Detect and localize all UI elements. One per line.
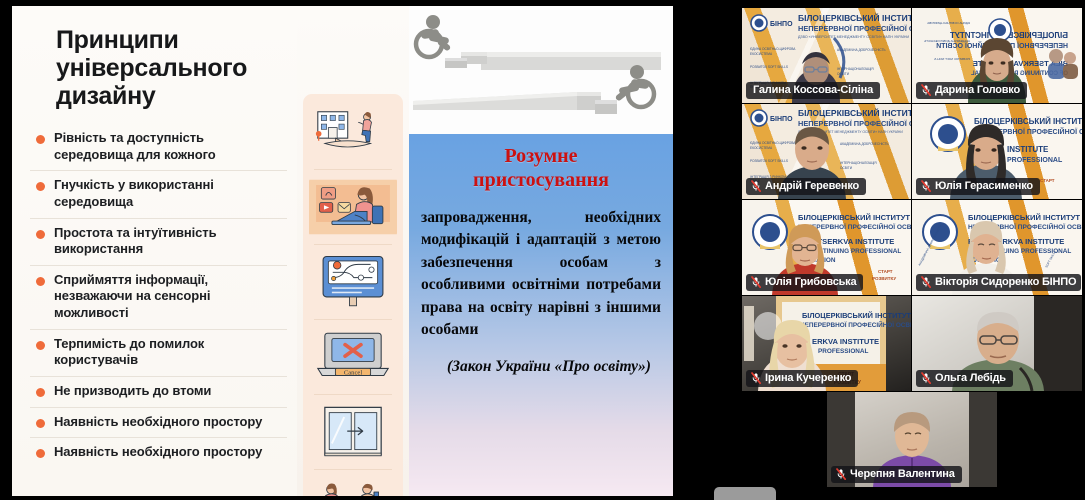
- bullet-dot-icon: [36, 419, 45, 428]
- participant-name-label: Дарина Головко: [935, 84, 1020, 96]
- list-item: Сприймяття інформації, незважаючи на сен…: [30, 265, 287, 329]
- bullet-dot-icon: [36, 135, 45, 144]
- svg-text:ОСВІТИ: ОСВІТИ: [840, 166, 853, 170]
- list-item: Простота та інтуїтивність використання: [30, 218, 287, 265]
- panel-heading: Розумне пристосування: [421, 144, 661, 193]
- microphone-muted-icon: [921, 180, 931, 192]
- cancel-button-label: Cancel: [344, 370, 362, 377]
- participant-name-label: Ірина Кучеренко: [765, 372, 851, 384]
- svg-text:СТАРТ: СТАРТ: [878, 269, 893, 274]
- participant-name-label: Галина Коссова-Сіліна: [753, 84, 873, 96]
- list-item: Наявність необхідного простору: [30, 437, 287, 468]
- svg-text:БІЛОЦЕРКІВСЬКИЙ ІНСТИТУТ: БІЛОЦЕРКІВСЬКИЙ ІНСТИТУТ: [798, 213, 910, 222]
- svg-text:БІЛОЦЕРКІВСЬКИЙ ІНСТИТУТ: БІЛОЦЕРКІВСЬКИЙ ІНСТИТУТ: [968, 213, 1080, 222]
- person-at-laptop-icon: [309, 176, 397, 238]
- list-item: Не призводить до втоми: [30, 376, 287, 407]
- svg-text:АКАДЕМІЧНА ДОБРОЧЕСНІСТЬ: АКАДЕМІЧНА ДОБРОЧЕСНІСТЬ: [924, 39, 970, 43]
- participant-name-chip: Юлія Грибовська: [746, 274, 863, 291]
- reasonable-accommodation-panel: Розумне пристосування запровадження, нео…: [409, 134, 673, 496]
- participant-name-label: Юлія Герасименко: [935, 180, 1033, 192]
- microphone-muted-icon: [921, 276, 931, 288]
- bullet-dot-icon: [36, 182, 45, 191]
- participant-tile-olha-lebid[interactable]: Ольга Лебідь: [912, 296, 1082, 391]
- two-students-desk-icon: [309, 476, 397, 496]
- slide-right-column: Розумне пристосування запровадження, нео…: [409, 6, 673, 496]
- participant-tile-yuliia-hrybovska[interactable]: БІЛОЦЕРКІВСЬКИЙ ІНСТИТУТ НЕПЕРЕРВНОЇ ПРО…: [742, 200, 911, 295]
- list-item-label: Не призводить до втоми: [54, 383, 211, 400]
- svg-text:INSTITUTE: INSTITUTE: [1007, 145, 1049, 154]
- svg-text:РОЗВИТОК SOFT SKILLS: РОЗВИТОК SOFT SKILLS: [750, 159, 788, 163]
- participant-name-chip: Черепня Валентина: [831, 466, 962, 483]
- participant-name-chip: Ольга Лебідь: [916, 370, 1013, 387]
- participant-name-chip: Вікторія Сидоренко БІНПО: [916, 274, 1081, 291]
- bullet-dot-icon: [36, 230, 45, 239]
- list-item-label: Рівність та доступність середовища для к…: [54, 130, 283, 163]
- svg-text:НЕПЕРЕРВНОЇ ПРОФЕСІЙНОЇ ОСВІТИ: НЕПЕРЕРВНОЇ ПРОФЕСІЙНОЇ ОСВІТИ: [798, 24, 911, 33]
- svg-text:СТАРТ: СТАРТ: [1040, 178, 1055, 183]
- slide-title-line-2: універсального дизайну: [56, 54, 247, 110]
- participant-name-chip: Ірина Кучеренко: [746, 370, 858, 387]
- list-item: Рівність та доступність середовища для к…: [30, 124, 287, 170]
- microphone-muted-icon: [751, 180, 761, 192]
- svg-text:АКАДЕМІЧНА ДОБРОЧЕСНІСТЬ: АКАДЕМІЧНА ДОБРОЧЕСНІСТЬ: [837, 48, 886, 52]
- list-item-label: Гнучкість у використанні середовища: [54, 177, 283, 210]
- participant-tile-halyna-kossova-silina[interactable]: БІНПО БІЛОЦЕРКІВСЬКИЙ ІНСТИТУТ НЕПЕРЕРВН…: [742, 8, 911, 103]
- participant-tile-andrii-herevenko[interactable]: БІНПО БІЛОЦЕРКІВСЬКИЙ ІНСТИТУТ НЕПЕРЕРВН…: [742, 104, 911, 199]
- svg-text:ЄДИНА ОСВІТНЬО-ЦИФРОВА: ЄДИНА ОСВІТНЬО-ЦИФРОВА: [750, 47, 796, 51]
- shared-presentation-slide[interactable]: Принципи універсального дизайну Рівність…: [12, 6, 673, 496]
- microphone-muted-icon: [751, 372, 761, 384]
- participant-name-label: Юлія Грибовська: [765, 276, 856, 288]
- svg-text:БІЛОЦЕРКІВСЬКИЙ ІНСТИТУТ: БІЛОЦЕРКІВСЬКИЙ ІНСТИТУТ: [798, 12, 911, 23]
- microphone-muted-icon: [836, 468, 846, 480]
- participant-tile-cherepnia-valentyna[interactable]: Черепня Валентина: [827, 392, 997, 487]
- slide-text-column: Принципи універсального дизайну Рівність…: [12, 6, 297, 496]
- bullet-dot-icon: [36, 449, 45, 458]
- bullet-dot-icon: [36, 277, 45, 286]
- panel-heading-line-2: пристосування: [421, 168, 661, 192]
- svg-text:ІНТЕРНАЦІОНАЛІЗАЦІЯ: ІНТЕРНАЦІОНАЛІЗАЦІЯ: [840, 161, 877, 165]
- wheelchair-stairs-vs-ramp-image: [409, 6, 673, 134]
- participant-tile-viktoriia-sydorenko[interactable]: БІЛОЦЕРКІВСЬКИЙ ІНСТИТУТ НЕПЕРЕРВНОЇ ПРО…: [912, 200, 1082, 295]
- svg-text:РОЗВИТОК SOFT SKILLS: РОЗВИТОК SOFT SKILLS: [750, 65, 788, 69]
- svg-text:НЕПЕРЕРВНОЇ ПРОФЕСІЙНОЇ ОСВІТИ: НЕПЕРЕРВНОЇ ПРОФЕСІЙНОЇ ОСВІТИ: [800, 320, 911, 329]
- participant-name-label: Ольга Лебідь: [935, 372, 1006, 384]
- list-item: Терпимість до помилок користувачів: [30, 329, 287, 376]
- svg-text:АКАДЕМІЧНА ДОБРОЧЕСНІСТЬ: АКАДЕМІЧНА ДОБРОЧЕСНІСТЬ: [840, 142, 889, 146]
- svg-text:PROFESSIONAL: PROFESSIONAL: [1007, 157, 1063, 164]
- svg-text:ЕКОСИСТЕМА: ЕКОСИСТЕМА: [750, 52, 773, 56]
- automatic-sliding-door-icon: [309, 401, 397, 463]
- list-item-label: Сприймяття інформації, незважаючи на сен…: [54, 272, 283, 322]
- panel-law-citation: (Закон України «Про освіту»): [421, 356, 661, 378]
- panel-body-text: запровадження, необхідних модифікацій і …: [421, 207, 661, 342]
- participant-tile-grid: БІНПО БІЛОЦЕРКІВСЬКИЙ ІНСТИТУТ НЕПЕРЕРВН…: [742, 8, 1082, 494]
- svg-text:РОЗВИТКУ: РОЗВИТКУ: [872, 276, 896, 281]
- principles-list: Рівність та доступність середовища для к…: [30, 124, 287, 490]
- bullet-dot-icon: [36, 388, 45, 397]
- list-item-label: Наявність необхідного простору: [54, 414, 262, 431]
- participant-name-label: Черепня Валентина: [850, 468, 955, 480]
- svg-text:ЄДИНА ОСВІТНЬО-ЦИФРОВА: ЄДИНА ОСВІТНЬО-ЦИФРОВА: [750, 141, 796, 145]
- list-item-label: Наявність необхідного простору: [54, 444, 262, 461]
- list-item-label: Простота та інтуїтивність використання: [54, 225, 283, 258]
- participant-tile-yuliia-herasymenko[interactable]: БІЛОЦЕРКІВСЬКИЙ ІНСТИТУТ НЕПЕРЕРВНОЇ ПРО…: [912, 104, 1082, 199]
- participant-name-label: Андрій Геревенко: [765, 180, 859, 192]
- divider: [314, 469, 392, 470]
- svg-text:РОЗВИТОК SOFT SKILLS: РОЗВИТОК SOFT SKILLS: [934, 57, 970, 61]
- participant-tile-daryna-holovko[interactable]: БІЛОЦЕРКІВСЬКИЙ ІНСТИТУТ НЕПЕРЕРВНОЇ ПРО…: [912, 8, 1082, 103]
- list-item-label: Терпимість до помилок користувачів: [54, 336, 283, 369]
- svg-text:БІЛОЦЕРКІВСЬКИЙ ІНСТИТУТ: БІЛОЦЕРКІВСЬКИЙ ІНСТИТУТ: [798, 107, 911, 118]
- participant-tile-iryna-kucherenko[interactable]: БІЛОЦЕРКІВСЬКИЙ ІНСТИТУТ НЕПЕРЕРВНОЇ ПРО…: [742, 296, 911, 391]
- participant-name-chip: Дарина Головко: [916, 82, 1027, 99]
- illustration-card: Cancel: [303, 94, 403, 496]
- participant-name-label: Вікторія Сидоренко БІНПО: [935, 276, 1076, 288]
- slide-illustration-column: Cancel: [297, 6, 409, 496]
- svg-text:БІНПО: БІНПО: [770, 21, 793, 28]
- panel-heading-line-1: Розумне: [504, 145, 577, 167]
- page-title: Принципи універсального дизайну: [56, 26, 287, 110]
- svg-text:БІЛОЦЕРКІВСЬКИЙ ІНСТИТУТ: БІЛОЦЕРКІВСЬКИЙ ІНСТИТУТ: [802, 311, 911, 320]
- svg-text:PROFESSIONAL: PROFESSIONAL: [818, 348, 869, 355]
- participant-name-chip: Юлія Герасименко: [916, 178, 1040, 195]
- list-item: Наявність необхідного простору: [30, 407, 287, 438]
- svg-text:ЕКОСИСТЕМА: ЕКОСИСТЕМА: [750, 146, 773, 150]
- divider: [314, 244, 392, 245]
- svg-text:ДЗВО «УНІВЕРСИТЕТ МЕНЕДЖМЕНТУ: ДЗВО «УНІВЕРСИТЕТ МЕНЕДЖМЕНТУ ОСВІТИ» НА…: [798, 35, 909, 39]
- participant-name-chip: Андрій Геревенко: [746, 178, 866, 195]
- divider: [314, 169, 392, 170]
- svg-text:БІНПО: БІНПО: [770, 116, 793, 123]
- list-item: Гнучкість у використанні середовища: [30, 170, 287, 217]
- participant-name-chip: Галина Коссова-Сіліна: [746, 82, 880, 99]
- microphone-muted-icon: [751, 276, 761, 288]
- microphone-muted-icon: [921, 372, 931, 384]
- building-ramp-wheelchair-icon: [309, 101, 397, 163]
- svg-text:ЄДИНА ОСВІТНЬО-ЦИФРОВА: ЄДИНА ОСВІТНЬО-ЦИФРОВА: [927, 21, 970, 25]
- bullet-dot-icon: [36, 341, 45, 350]
- screen-share-conference-view: Принципи універсального дизайну Рівність…: [0, 0, 1085, 500]
- meeting-toolbar-partial[interactable]: [714, 487, 776, 500]
- divider: [314, 319, 392, 320]
- microphone-muted-icon: [921, 84, 931, 96]
- laptop-cancel-dialog-icon: Cancel: [309, 326, 397, 388]
- divider: [314, 394, 392, 395]
- slide-title-line-1: Принципи: [56, 26, 179, 54]
- svg-text:НЕПЕРЕРВНОЇ ПРОФЕСІЙНОЇ ОСВІТИ: НЕПЕРЕРВНОЇ ПРОФЕСІЙНОЇ ОСВІТИ: [798, 119, 911, 128]
- svg-text:ERKVA INSTITUTE: ERKVA INSTITUTE: [812, 337, 879, 346]
- screen-diagram-icon: [309, 251, 397, 313]
